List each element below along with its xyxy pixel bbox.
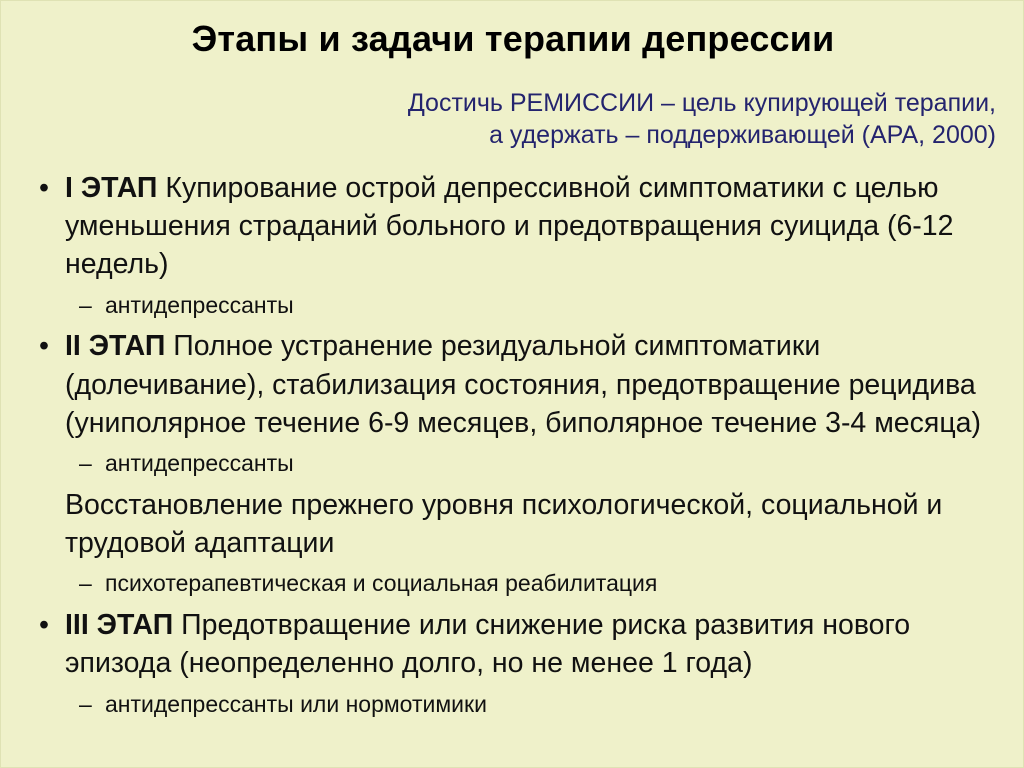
stage-2-text: Полное устранение резидуальной симптомат… [65, 330, 981, 438]
stage-3-subitem-label: антидепрессанты или нормотимики [105, 691, 487, 717]
slide-canvas: Этапы и задачи терапии депрессии Достичь… [0, 0, 1024, 768]
stage-2-extra-paragraph-item: Восстановление прежнего уровня психологи… [1, 486, 1024, 562]
stage-2-block: • II ЭТАП Полное устранение резидуальной… [1, 327, 1024, 599]
stage-2-paragraph: II ЭТАП Полное устранение резидуальной с… [65, 327, 1001, 442]
bullet-icon: • [39, 327, 53, 365]
stage-1-bullet-item: • I ЭТАП Купирование острой депрессивной… [1, 169, 1024, 284]
stage-1-text: Купирование острой депрессивной симптома… [65, 172, 954, 280]
stage-3-paragraph: III ЭТАП Предотвращение или снижение рис… [65, 606, 1001, 682]
subtitle-line-2: а удержать – поддерживающей (APA, 2000) [151, 119, 996, 151]
bullet-icon: • [39, 169, 53, 207]
stage-1-paragraph: I ЭТАП Купирование острой депрессивной с… [65, 169, 1001, 284]
stage-1-subitem-label: антидепрессанты [105, 292, 294, 318]
subtitle-line-1: Достичь РЕМИССИИ – цель купирующей терап… [151, 87, 996, 119]
stage-2-extra-subitem-label: психотерапевтическая и социальная реабил… [105, 570, 657, 596]
slide-title: Этапы и задачи терапии депрессии [1, 21, 1024, 57]
stage-3-bullet-item: • III ЭТАП Предотвращение или снижение р… [1, 606, 1024, 682]
stage-3-subitem: – антидепрессанты или нормотимики [1, 690, 1024, 720]
stage-2-subitem: – антидепрессанты [1, 449, 1024, 479]
stage-1-label: I ЭТАП [65, 172, 157, 204]
dash-icon: – [79, 690, 92, 720]
slide-subtitle: Достичь РЕМИССИИ – цель купирующей терап… [151, 87, 996, 151]
bullet-icon: • [39, 606, 53, 644]
stage-3-label: III ЭТАП [65, 609, 173, 641]
slide-body: • I ЭТАП Купирование острой депрессивной… [1, 169, 1024, 726]
stage-1-subitem: – антидепрессанты [1, 291, 1024, 321]
stage-2-bullet-item: • II ЭТАП Полное устранение резидуальной… [1, 327, 1024, 442]
dash-icon: – [79, 291, 92, 321]
stage-3-text: Предотвращение или снижение риска развит… [65, 609, 910, 679]
stage-2-extra-paragraph: Восстановление прежнего уровня психологи… [65, 486, 1001, 562]
stage-3-block: • III ЭТАП Предотвращение или снижение р… [1, 606, 1024, 719]
stage-1-block: • I ЭТАП Купирование острой депрессивной… [1, 169, 1024, 320]
dash-icon: – [79, 449, 92, 479]
stage-2-label: II ЭТАП [65, 330, 165, 362]
stage-2-subitem-label: антидепрессанты [105, 450, 294, 476]
dash-icon: – [79, 569, 92, 599]
stage-2-extra-subitem: – психотерапевтическая и социальная реаб… [1, 569, 1024, 599]
